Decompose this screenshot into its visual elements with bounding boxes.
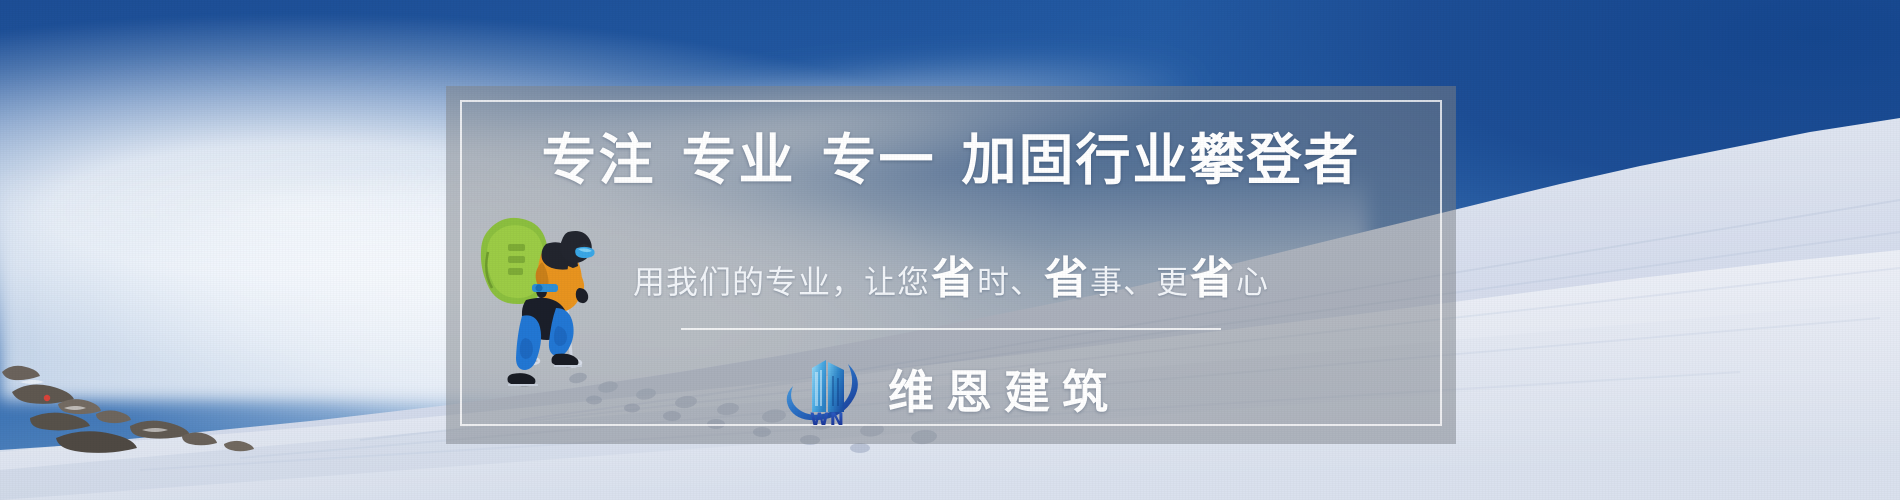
brand-name: 维恩建筑 — [888, 356, 1120, 422]
subtitle-emphasis-2: 省 — [1043, 242, 1090, 306]
subtitle-part-1: 用我们的专业，让您 — [633, 257, 930, 303]
headline-segment-4: 加固行业攀登者 — [962, 128, 1361, 192]
headline: 专注专业专一加固行业攀登者 — [541, 132, 1360, 190]
panel-content: 专注专业专一加固行业攀登者 用我们的专业，让您省时、省事、更省心 — [446, 86, 1456, 444]
subtitle-emphasis-1: 省 — [930, 242, 977, 306]
subtitle: 用我们的专业，让您省时、省事、更省心 — [633, 242, 1269, 306]
headline-segment-1: 专注 — [541, 128, 655, 192]
logo-tower-left — [812, 360, 826, 412]
subtitle-part-4: 心 — [1236, 257, 1269, 303]
subtitle-part-3: 事、更 — [1090, 257, 1189, 303]
logo-tower-right — [828, 362, 844, 412]
hero-banner: 专注专业专一加固行业攀登者 用我们的专业，让您省时、省事、更省心 — [0, 0, 1900, 500]
brand-row: WN 维恩建筑 — [782, 350, 1120, 428]
headline-segment-3: 专一 — [822, 128, 936, 192]
divider-rule — [681, 328, 1221, 330]
subtitle-emphasis-3: 省 — [1189, 242, 1236, 306]
subtitle-part-2: 时、 — [977, 257, 1043, 303]
company-logo-icon: WN — [782, 350, 868, 428]
rocks-icon — [0, 352, 340, 472]
logo-letters: WN — [810, 410, 845, 428]
rock-marker-dot — [44, 395, 50, 401]
headline-segment-2: 专业 — [681, 128, 795, 192]
